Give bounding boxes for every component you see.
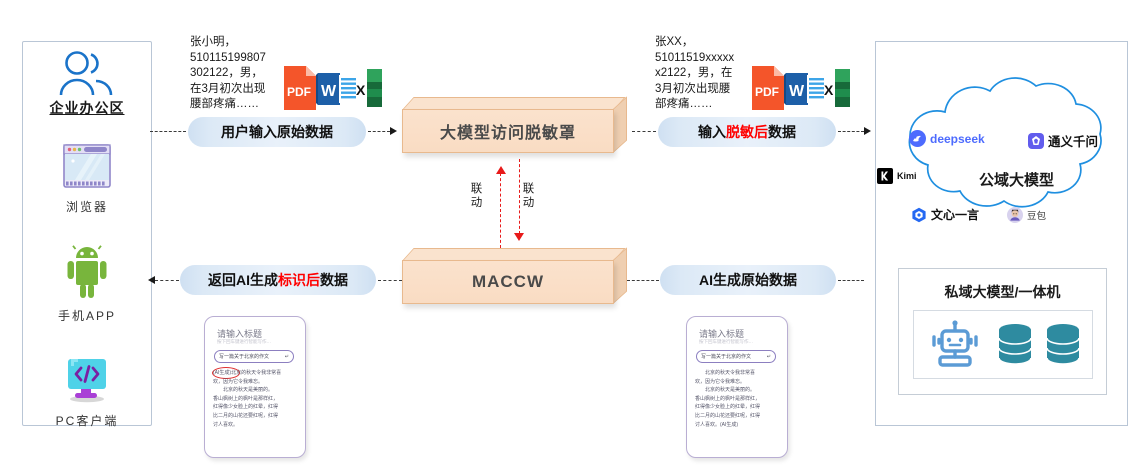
phone-subtitle-right: 按下回车键进行智能写作… [699, 339, 753, 345]
flow-label-ai-raw[interactable]: AI生成原始数据 [660, 265, 836, 295]
ai-badge-left: (AI生成) [213, 370, 231, 376]
maccw-label: MACCW [402, 260, 614, 304]
flow-label-ai-raw-text: AI生成原始数据 [699, 270, 797, 290]
robot-icon [926, 319, 984, 371]
arrow-right-icon [390, 127, 397, 135]
sidebar-item-mobile-app[interactable]: 手机APP [23, 245, 151, 324]
people-icon [58, 50, 116, 101]
deepseek-icon [909, 130, 926, 147]
sidebar-item-pc-client[interactable]: PC客户端 [23, 354, 151, 429]
phone-input-value-right: 写一篇关于北京的作文 [701, 353, 751, 360]
android-icon [62, 286, 112, 303]
enterprise-office-panel: 企业办公区 [22, 41, 152, 426]
llm-logo-deepseek: deepseek [909, 130, 985, 147]
document-format-icons: PDF W X [750, 64, 852, 117]
link-label-right: 联动 [522, 182, 535, 210]
tongyi-qianwen-icon [1028, 133, 1044, 149]
mask-gateway-label: 大模型访问脱敏罩 [402, 109, 614, 153]
phone-input-right[interactable]: 写一篇关于北京的作文 ↵ [696, 350, 776, 363]
arrow-down-icon [514, 233, 524, 241]
svg-text:PDF: PDF [755, 85, 779, 99]
svg-text:PDF: PDF [287, 85, 311, 99]
public-cloud-shape: 公域大模型 deepseek 通义千问 Kimi [871, 64, 1127, 244]
link-line-down [519, 159, 520, 234]
phone-mockup-tagged-output[interactable]: 请输入标题 按下回车键进行智能写作… 写一篇关于北京的作文 ↵ (AI生成)北京… [204, 316, 306, 458]
flow-label-return-ai-post: 数据 [320, 270, 348, 290]
sidebar-item-browser-label: 浏览器 [23, 198, 151, 215]
llm-logo-doubao: 豆包 [1007, 207, 1046, 223]
llm-label-deepseek: deepseek [930, 132, 985, 146]
enter-key-icon[interactable]: ↵ [767, 354, 771, 360]
flow-label-user-input[interactable]: 用户输入原始数据 [188, 117, 366, 147]
phone-input-value-left: 写一篇关于北京的作文 [219, 353, 269, 360]
flow-label-return-ai-pre: 返回AI生成 [208, 270, 278, 290]
database-icon [998, 323, 1032, 367]
svg-text:X: X [824, 82, 834, 98]
svg-text:W: W [789, 83, 805, 100]
connector-airaw-to-maccw [627, 280, 659, 281]
llm-logo-tongyi-qianwen: 通义千问 [1028, 131, 1098, 150]
connector-maskedinput-to-cloud [838, 131, 864, 132]
code-monitor-icon [59, 391, 115, 408]
private-llm-icons [913, 310, 1093, 379]
doubao-icon [1007, 207, 1023, 223]
phone-mockup-raw-output[interactable]: 请输入标题 按下回车键进行智能写作… 写一篇关于北京的作文 ↵ 北京的秋天令我非… [686, 316, 788, 458]
llm-label-wenxin-yiyan: 文心一言 [931, 206, 979, 223]
connector-cloud-to-airaw [838, 280, 864, 281]
llm-panel: 公域大模型 deepseek 通义千问 Kimi [875, 41, 1128, 426]
browser-icon [61, 177, 113, 194]
enter-key-icon[interactable]: ↵ [285, 354, 289, 360]
arrow-up-icon [496, 166, 506, 174]
phone-input-left[interactable]: 写一篇关于北京的作文 ↵ [214, 350, 294, 363]
link-label-left: 联动 [470, 182, 483, 210]
llm-label-tongyi-qianwen: 通义千问 [1048, 131, 1098, 150]
public-llm-title: 公域大模型 [979, 169, 1054, 190]
phone-subtitle-left: 按下回车键进行智能写作… [217, 339, 271, 345]
connector-office-to-userinput [150, 131, 186, 132]
connector-returnai-to-office [155, 280, 179, 281]
flow-label-masked-input-pre: 输入 [698, 122, 726, 142]
svg-text:W: W [321, 83, 337, 100]
llm-logo-wenxin-yiyan: 文心一言 [911, 206, 979, 223]
flow-label-masked-input[interactable]: 输入脱敏后数据 [658, 117, 836, 147]
arrow-right-icon [864, 127, 871, 135]
private-llm-box[interactable]: 私域大模型/一体机 [898, 268, 1107, 395]
phone-body-left: (AI生成)北京的秋天令我非常喜 欢，因为它令我难忘。 北京的秋天是美丽的。 香… [213, 369, 299, 429]
office-panel-title: 企业办公区 [23, 98, 151, 118]
connector-maccw-to-returnai [378, 280, 402, 281]
masked-data-text: 张XX， 51011519xxxxx x2122，男，在 3月初次出现腰 部疼痛… [655, 35, 765, 113]
llm-label-kimi: Kimi [897, 171, 917, 181]
phone-body-text-left: 北京的秋天令我非常喜 欢，因为它令我难忘。 北京的秋天是美丽的。 香山枫树上的枫… [213, 370, 281, 428]
flow-label-user-input-text: 用户输入原始数据 [221, 122, 333, 142]
sidebar-item-pc-client-label: PC客户端 [23, 412, 151, 429]
private-llm-title: 私域大模型/一体机 [899, 282, 1106, 302]
sidebar-item-mobile-app-label: 手机APP [23, 307, 151, 324]
database-icon [1046, 323, 1080, 367]
link-line-up [500, 173, 501, 248]
arrow-left-icon [148, 276, 155, 284]
kimi-icon [877, 168, 893, 184]
document-format-icons: PDF W X [282, 64, 384, 117]
flow-label-masked-input-highlight: 脱敏后 [726, 122, 768, 142]
llm-label-doubao: 豆包 [1027, 208, 1046, 222]
wenxin-yiyan-icon [911, 207, 927, 223]
connector-userinput-to-maskbox [368, 131, 390, 132]
flow-label-return-ai[interactable]: 返回AI生成标识后数据 [180, 265, 376, 295]
phone-body-right: 北京的秋天令我非常喜 欢，因为它令我难忘。 北京的秋天是美丽的。 香山枫树上的枫… [695, 369, 781, 429]
connector-maskbox-to-maskedinput [632, 131, 656, 132]
flow-label-masked-input-post: 数据 [768, 122, 796, 142]
llm-logo-kimi: Kimi [877, 168, 917, 184]
flow-label-return-ai-highlight: 标识后 [278, 270, 320, 290]
svg-text:X: X [356, 82, 366, 98]
sidebar-item-browser[interactable]: 浏览器 [23, 142, 151, 215]
